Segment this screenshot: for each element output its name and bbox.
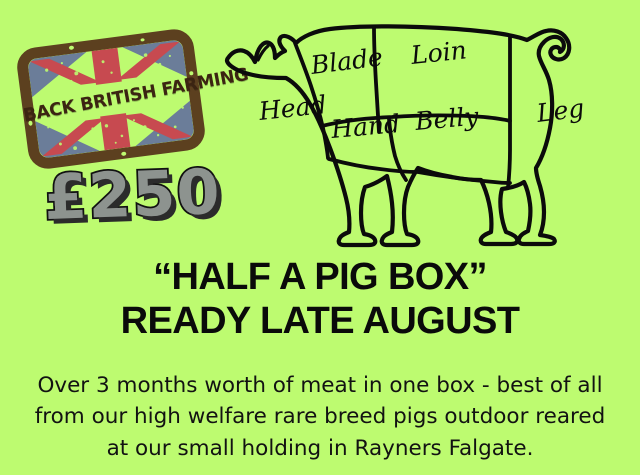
cut-line-horizontal-lower xyxy=(329,159,510,183)
poster-canvas: BACK BRITISH FARMING £250 xyxy=(0,0,640,475)
cut-label-leg: Leg xyxy=(534,93,586,128)
cut-line-loin-leg xyxy=(508,36,510,188)
body-copy-line-3: at our small holding in Rayners Falgate. xyxy=(18,433,622,464)
headline-line-2: READY LATE AUGUST xyxy=(0,300,640,344)
headline: “HALF A PIG BOX” READY LATE AUGUST xyxy=(0,256,640,343)
headline-line-1: “HALF A PIG BOX” xyxy=(0,256,640,300)
back-british-farming-badge: BACK BRITISH FARMING xyxy=(15,27,207,171)
body-copy-line-1: Over 3 months worth of meat in one box -… xyxy=(18,370,622,401)
price-text: £250 xyxy=(43,161,222,229)
cut-label-belly: Belly xyxy=(413,101,480,136)
body-copy: Over 3 months worth of meat in one box -… xyxy=(18,370,622,464)
cut-label-hand: Hand xyxy=(329,109,401,144)
pig-cuts-diagram: Head Blade Loin Hand Belly Leg xyxy=(222,16,638,252)
cut-label-blade: Blade xyxy=(308,42,384,80)
body-copy-line-2: from our high welfare rare breed pigs ou… xyxy=(18,401,622,432)
cut-label-loin: Loin xyxy=(409,35,468,70)
